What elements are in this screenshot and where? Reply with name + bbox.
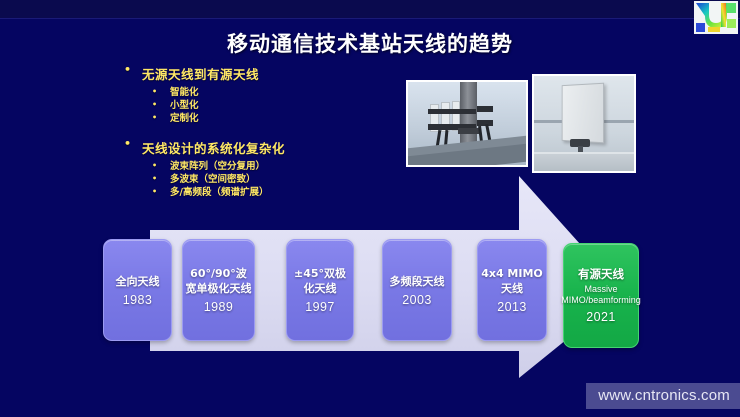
photo-mount-arm xyxy=(477,106,493,112)
timeline-item-name: 4x4 MIMO天线 xyxy=(480,266,544,296)
timeline-item-name: 多频段天线 xyxy=(390,274,445,289)
presentation-slide: Advanced Antenna Technologies in 5G Mobi… xyxy=(0,0,740,417)
timeline-item-6[interactable]: 有源天线 Massive MIMO/beamforming 2021 xyxy=(563,243,639,348)
watermark: www.cntronics.com xyxy=(586,383,740,409)
em-field-simulation-logo-icon xyxy=(694,1,738,34)
timeline-item-year: 2021 xyxy=(586,310,615,324)
timeline-item-name: ±45°双极化天线 xyxy=(289,266,351,296)
timeline-item-4[interactable]: 多频段天线 2003 xyxy=(382,239,452,341)
timeline-item-3[interactable]: ±45°双极化天线 1997 xyxy=(286,239,354,341)
timeline-item-5[interactable]: 4x4 MIMO天线 2013 xyxy=(477,239,547,341)
photo-mount-arm xyxy=(428,109,476,114)
timeline-item-1[interactable]: 全向天线 1983 xyxy=(103,239,172,341)
photo-panel-face xyxy=(562,83,604,144)
timeline-item-2[interactable]: 60°/90°波宽单极化天线 1989 xyxy=(182,239,255,341)
logo-graphic xyxy=(694,1,738,34)
timeline-item-year: 1983 xyxy=(123,293,152,307)
timeline-item-subtitle: Massive MIMO/beamforming xyxy=(561,284,641,306)
photo-wall-mounted-panel-antenna xyxy=(532,74,636,173)
timeline-item-name: 60°/90°波宽单极化天线 xyxy=(185,266,252,296)
timeline-item-name: 有源天线 xyxy=(578,267,624,282)
slide-header-bar xyxy=(0,0,740,19)
photo-mount-arm xyxy=(458,128,479,134)
timeline-item-name: 全向天线 xyxy=(116,274,160,289)
photo-parapet xyxy=(534,152,634,173)
timeline-item-year: 1997 xyxy=(305,300,334,314)
timeline-arrow xyxy=(0,0,740,417)
photo-tower-mounted-sector-antennas xyxy=(406,80,528,167)
timeline-item-year: 2003 xyxy=(402,293,431,307)
timeline-item-year: 2013 xyxy=(497,300,526,314)
timeline-item-year: 1989 xyxy=(204,300,233,314)
